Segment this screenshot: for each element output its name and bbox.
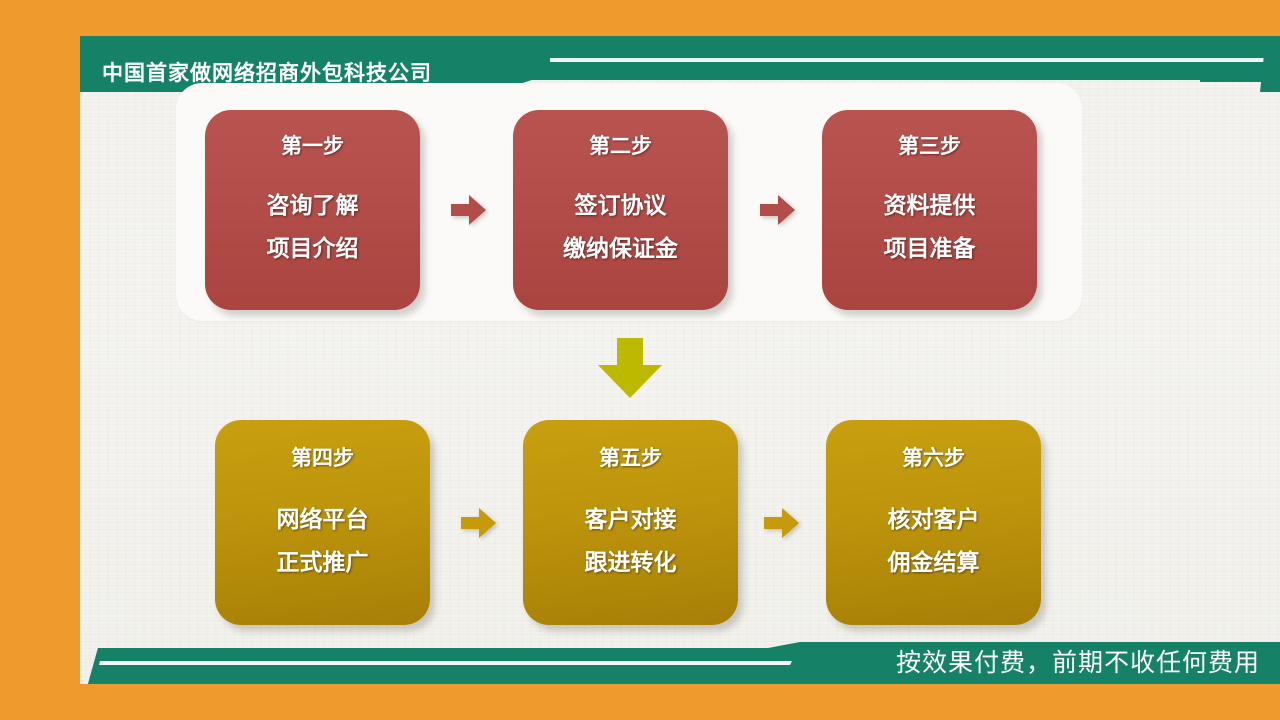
step-card-3-line-2: 项目准备 [884,238,976,261]
step-card-5-line-1: 客户对接 [585,509,677,532]
step-card-6-line-2: 佣金结算 [888,552,980,575]
step-card-3-body: 资料提供 项目准备 [884,195,976,261]
step-card-2[interactable]: 第二步 签订协议 缴纳保证金 [513,110,728,310]
arrow-right-icon-1 [449,193,489,227]
step-card-5-title: 第五步 [599,448,662,469]
step-card-1[interactable]: 第一步 咨询了解 项目介绍 [205,110,420,310]
step-card-4-title: 第四步 [291,448,354,469]
arrow-right-icon-4 [762,506,802,540]
step-card-3[interactable]: 第三步 资料提供 项目准备 [822,110,1037,310]
step-card-1-line-1: 咨询了解 [267,195,359,218]
step-card-2-line-1: 签订协议 [563,195,678,218]
footer-tagline: 按效果付费，前期不收任何费用 [896,643,1260,679]
step-card-6-body: 核对客户 佣金结算 [888,509,980,575]
step-card-5-body: 客户对接 跟进转化 [585,509,677,575]
slide-canvas: 中国首家做网络招商外包科技公司 第一步 咨询了解 项目介绍 第二步 签订协议 缴… [0,0,1280,720]
panel-bottom-edge [80,684,1280,720]
step-card-3-title: 第三步 [898,136,961,157]
step-card-6-line-1: 核对客户 [888,509,980,532]
step-card-1-title: 第一步 [281,136,344,157]
step-card-5-line-2: 跟进转化 [585,552,677,575]
step-card-6-title: 第六步 [902,448,965,469]
arrow-right-icon-2 [758,193,798,227]
step-card-3-line-1: 资料提供 [884,195,976,218]
step-card-4-line-1: 网络平台 [277,509,369,532]
step-card-4-body: 网络平台 正式推广 [277,509,369,575]
step-card-6[interactable]: 第六步 核对客户 佣金结算 [826,420,1041,625]
step-card-2-line-2: 缴纳保证金 [563,238,678,261]
footer-band: 按效果付费，前期不收任何费用 [80,630,1280,686]
step-card-1-line-2: 项目介绍 [267,238,359,261]
step-card-1-body: 咨询了解 项目介绍 [267,195,359,261]
arrow-down-icon [596,338,664,400]
step-card-5[interactable]: 第五步 客户对接 跟进转化 [523,420,738,625]
step-card-4[interactable]: 第四步 网络平台 正式推广 [215,420,430,625]
step-card-2-body: 签订协议 缴纳保证金 [563,195,678,261]
arrow-right-icon-3 [459,506,499,540]
step-card-2-title: 第二步 [589,136,652,157]
step-card-4-line-2: 正式推广 [277,552,369,575]
